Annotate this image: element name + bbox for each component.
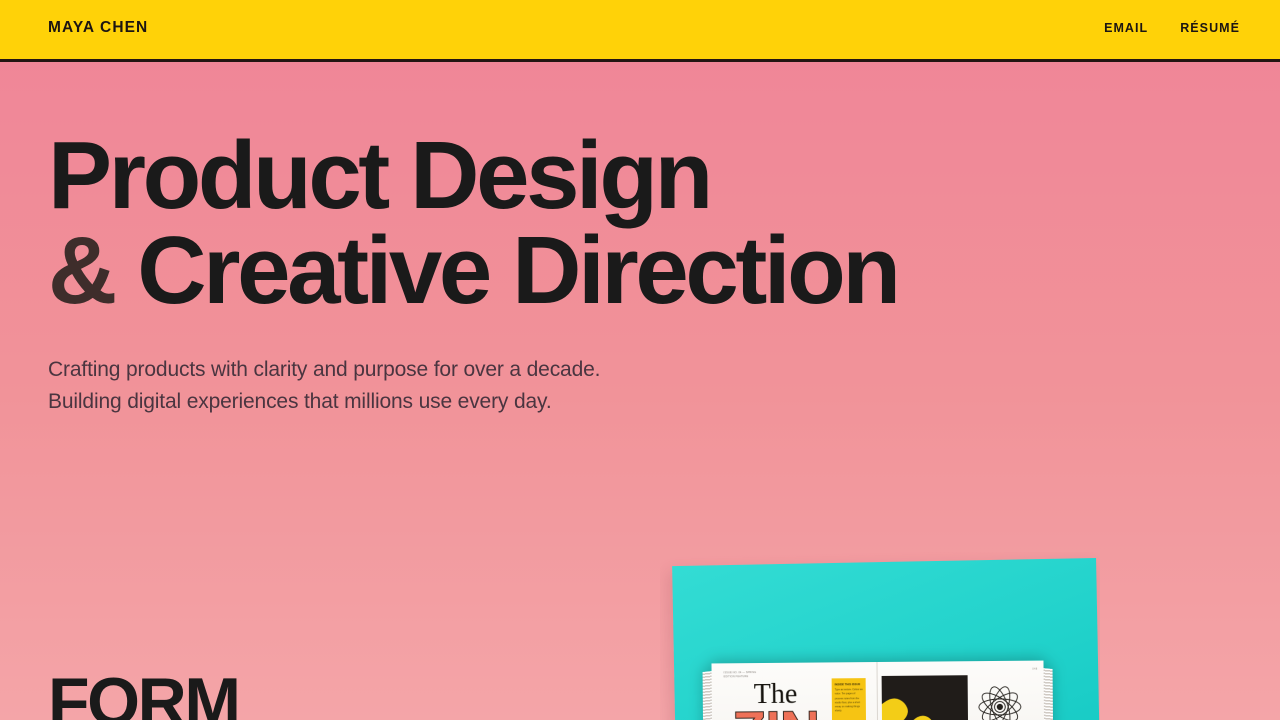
hero-subtitle: Crafting products with clarity and purpo… xyxy=(48,354,1232,418)
page-stack-right-edge xyxy=(1043,668,1054,720)
headline-ampersand: & xyxy=(48,217,114,324)
section-heading-form: FORM xyxy=(48,668,239,720)
site-header: MAYA CHEN EMAIL RÉSUMÉ xyxy=(0,0,1280,62)
headline-line-1: Product Design xyxy=(48,122,710,229)
right-page-dark-panel xyxy=(882,675,969,720)
atom-diagram-icon xyxy=(976,683,1024,720)
magazine-left-page: ISSUE NO. 04 — SPRING EDITION FEATURE Th… xyxy=(711,662,878,720)
hero-section: Product Design & Creative Direction Craf… xyxy=(0,62,1280,418)
open-magazine: ISSUE NO. 04 — SPRING EDITION FEATURE Th… xyxy=(711,661,1044,720)
subtitle-line-2: Building digital experiences that millio… xyxy=(48,386,1232,418)
nav-link-resume[interactable]: RÉSUMÉ xyxy=(1180,21,1240,35)
sidebar-title: INSIDE THIS ISSUE xyxy=(835,682,863,686)
left-page-yellow-sidebar: INSIDE THIS ISSUE Type as texture. Colou… xyxy=(832,678,867,720)
zine-photograph[interactable]: ISSUE NO. 04 — SPRING EDITION FEATURE Th… xyxy=(660,552,1100,720)
brand-name[interactable]: MAYA CHEN xyxy=(48,19,148,37)
left-page-display-word: ZIN xyxy=(732,703,820,720)
primary-nav: EMAIL RÉSUMÉ xyxy=(1104,21,1240,35)
nav-link-email[interactable]: EMAIL xyxy=(1104,21,1148,35)
subtitle-line-1: Crafting products with clarity and purpo… xyxy=(48,354,1232,386)
sidebar-body: Type as texture. Colour as voice. Ten pa… xyxy=(835,688,863,713)
teardrop-shape-icon xyxy=(882,694,912,720)
page-number: 048 xyxy=(1032,668,1037,671)
page-title: Product Design & Creative Direction xyxy=(48,128,1232,318)
headline-line-2: Creative Direction xyxy=(114,217,898,324)
magazine-right-page: 048 xyxy=(877,661,1044,720)
